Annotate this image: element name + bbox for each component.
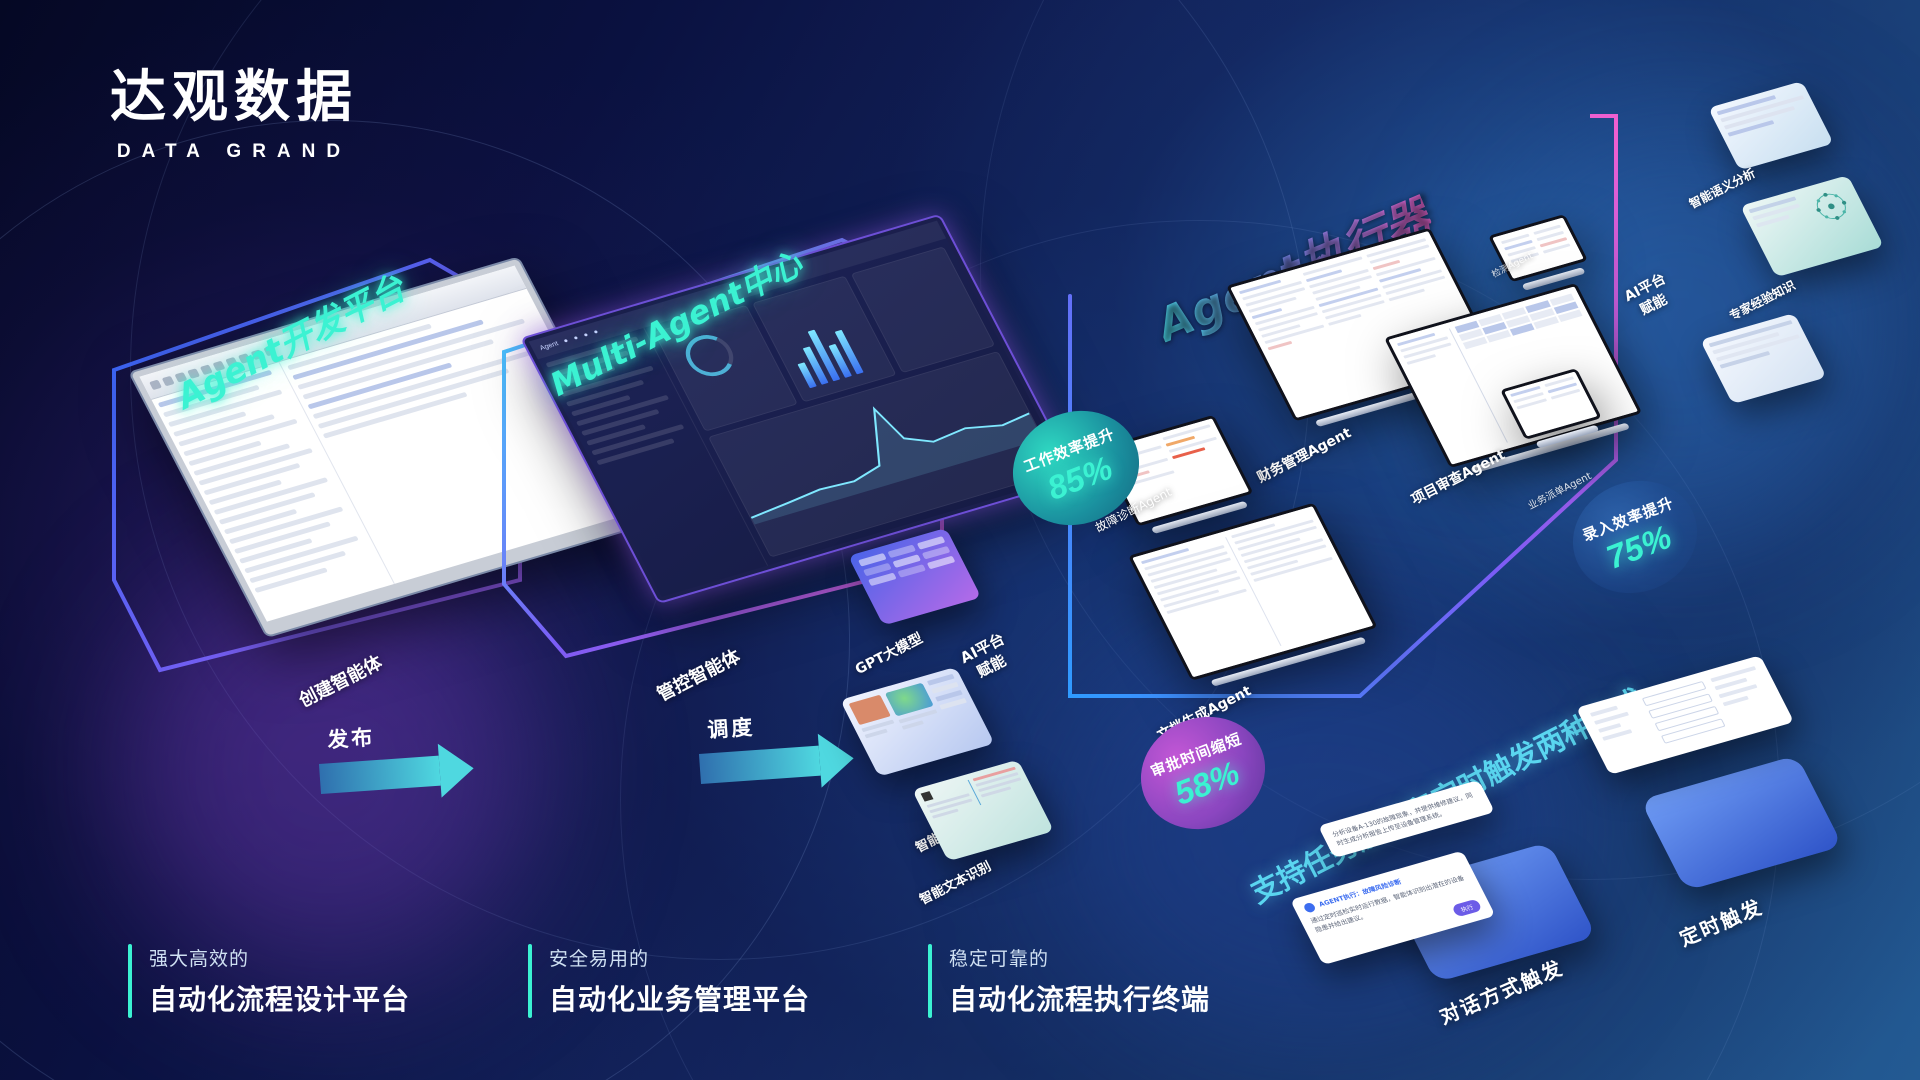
caption-accent-bar xyxy=(128,944,132,1018)
caption-business-platform-small: 安全易用的 xyxy=(549,944,810,971)
finance-agent-label: 财务管理Agent xyxy=(1253,422,1354,487)
caption-accent-bar xyxy=(528,944,532,1018)
caption-execution-terminal: 稳定可靠的 自动化流程执行终端 xyxy=(928,944,1210,1018)
semantic-analysis-card-a[interactable] xyxy=(1708,81,1834,170)
caption-execution-terminal-large: 自动化流程执行终端 xyxy=(949,978,1210,1018)
inspection-agent-monitor[interactable] xyxy=(1488,214,1593,293)
caption-execution-terminal-small: 稳定可靠的 xyxy=(949,944,1210,971)
ai-platform-note-center: AI平台 赋能 xyxy=(957,629,1017,687)
doc-generation-agent-monitor[interactable] xyxy=(1128,503,1383,692)
schedule-trigger-card[interactable] xyxy=(1576,655,1794,775)
brand-logo: 达观数据 DATA GRAND xyxy=(110,52,358,163)
brand-name-cn: 达观数据 xyxy=(110,52,358,133)
caption-design-platform-small: 强大高效的 xyxy=(149,944,410,971)
schedule-trigger-pad xyxy=(1640,755,1843,891)
flow-arrow-dispatch: 调度 xyxy=(698,731,855,796)
caption-design-platform: 强大高效的 自动化流程设计平台 xyxy=(128,944,410,1018)
agent-dev-platform-caption: 创建智能体 xyxy=(294,649,386,713)
text-recognition-label: 智能文本识别 xyxy=(916,856,994,908)
gpt-model-card[interactable] xyxy=(848,528,981,626)
dialog-trigger-execute-button[interactable]: 执行 xyxy=(1451,899,1482,918)
background-ring-1 xyxy=(0,120,850,1080)
agent-avatar-icon xyxy=(1302,902,1316,914)
caption-business-platform-large: 自动化业务管理平台 xyxy=(549,978,810,1018)
gpt-model-label: GPT大模型 xyxy=(851,628,925,679)
dispatch-agent-label: 业务派单Agent xyxy=(1525,467,1594,512)
ai-platform-note-right: AI平台 赋能 xyxy=(1621,270,1677,324)
flow-arrow-publish-label: 发布 xyxy=(326,721,376,754)
bottom-captions: 强大高效的 自动化流程设计平台 安全易用的 自动化业务管理平台 稳定可靠的 自动… xyxy=(128,944,1210,1018)
flow-arrow-dispatch-label: 调度 xyxy=(706,711,756,744)
infographic-canvas: 达观数据 DATA GRAND xyxy=(0,0,1920,1080)
brand-name-en: DATA GRAND xyxy=(110,141,358,163)
multi-agent-center-caption: 管控智能体 xyxy=(652,643,744,707)
stat-bubble-approval: 审批时间缩短 58% xyxy=(1124,699,1281,847)
caption-business-platform: 安全易用的 自动化业务管理平台 xyxy=(528,944,810,1018)
semantic-analysis-card-b[interactable] xyxy=(1700,313,1827,404)
schedule-trigger-label: 定时触发 xyxy=(1674,891,1766,952)
caption-accent-bar xyxy=(928,944,932,1018)
expert-knowledge-card[interactable] xyxy=(1740,175,1884,277)
flow-arrow-publish: 发布 xyxy=(318,741,475,806)
caption-design-platform-large: 自动化流程设计平台 xyxy=(149,978,410,1018)
image-recognition-card[interactable] xyxy=(840,667,995,777)
